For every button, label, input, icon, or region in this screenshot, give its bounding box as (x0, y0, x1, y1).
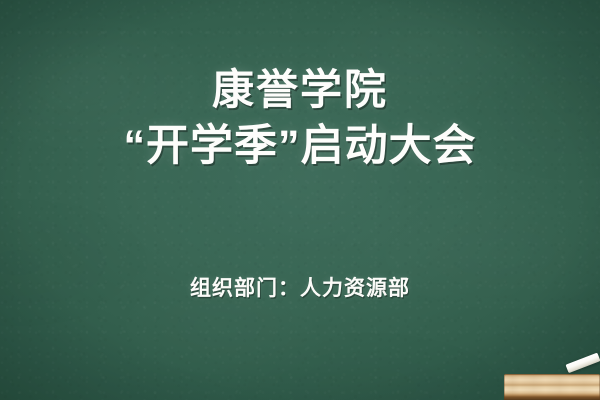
slide-content: 康誉学院 “开学季”启动大会 组织部门：人力资源部 (0, 0, 600, 400)
chalkboard-slide: 康誉学院 “开学季”启动大会 组织部门：人力资源部 (0, 0, 600, 400)
chalk-ledge (504, 374, 600, 400)
title-line-1: 康誉学院 (0, 62, 600, 118)
title-line-2: “开学季”启动大会 (0, 118, 600, 174)
slide-subtitle: 组织部门：人力资源部 (0, 276, 600, 302)
chalk-ledge-woodgrain (504, 374, 600, 400)
slide-title: 康誉学院 “开学季”启动大会 (0, 62, 600, 174)
